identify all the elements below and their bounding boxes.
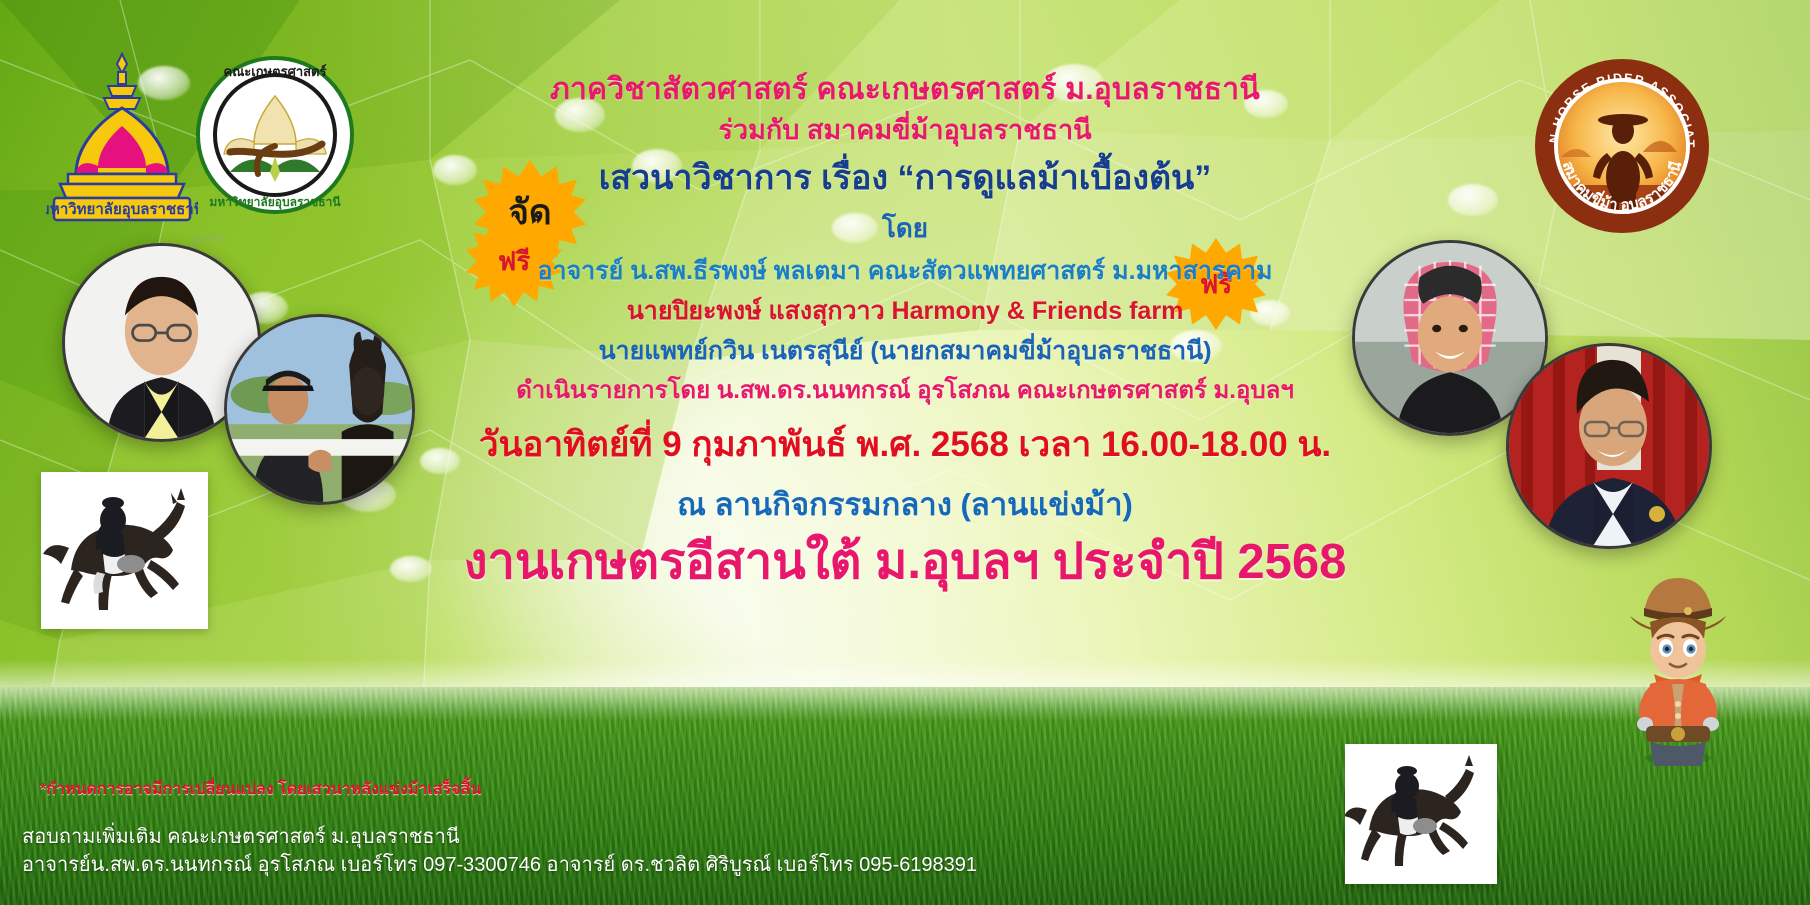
cooperation-line: ร่วมกับ สมาคมขี่ม้าอุบลราชธานี [430, 116, 1380, 145]
speaker-2: นายปิยะพงษ์ แสงสุกวาว Harmony & Friends … [430, 298, 1380, 325]
fair-title: งานเกษตรอีสานใต้ ม.อุบลฯ ประจำปี 2568 [430, 536, 1380, 589]
speaker-3: นายแพทย์กวิน เนตรสุนีย์ (นายกสมาคมขี่ม้า… [430, 338, 1380, 365]
moderator-line: ดำเนินรายการโดย น.สพ.ดร.นนทกรณ์ อุรโสภณ … [430, 378, 1380, 404]
photo-jumping-horse-left [41, 472, 208, 629]
poster-text-block: ภาควิชาสัตวศาสตร์ คณะเกษตรศาสตร์ ม.อุบลร… [430, 74, 1380, 588]
event-poster: urer มหาวิทยาลัยอุบลราชธานี [0, 0, 1810, 905]
speaker-1: อาจารย์ น.สพ.ธีรพงษ์ พลเตมา คณะสัตวแพทยศ… [430, 258, 1380, 285]
topic-line: เสวนาวิชาการ เรื่อง “การดูแลม้าเบื้องต้น… [430, 160, 1380, 197]
photo-speaker-piyapong [224, 314, 415, 505]
svg-text:คณะเกษตรศาสตร์: คณะเกษตรศาสตร์ [224, 64, 327, 79]
svg-text:มหาวิทยาลัยอุบลราชธานี: มหาวิทยาลัยอุบลราชธานี [209, 195, 341, 210]
bokeh-dot [1448, 184, 1498, 216]
contact-line-1: สอบถามเพิ่มเติม คณะเกษตรศาสตร์ ม.อุบลราช… [22, 823, 977, 851]
disclaimer-note: *กำหนดการอาจมีการเปลี่ยนแปลง โดยเสวนาหลั… [40, 777, 481, 802]
bokeh-dot [390, 556, 432, 582]
ubon-horse-rider-association-logo: UBON HORSE RIDER ASSOCIATION สมาคมขี่ม้า… [1533, 57, 1711, 235]
svg-text:มหาวิทยาลัยอุบลราชธานี: มหาวิทยาลัยอุบลราชธานี [46, 200, 198, 219]
photo-moderator-nontakorn [1506, 343, 1712, 549]
host-line: ภาควิชาสัตวศาสตร์ คณะเกษตรศาสตร์ ม.อุบลร… [430, 74, 1380, 106]
cowboy-mascot [1614, 554, 1742, 766]
university-ubu-logo: มหาวิทยาลัยอุบลราชธานี [46, 48, 198, 224]
contact-line-2: อาจารย์น.สพ.ดร.นนทกรณ์ อุรโสภณ เบอร์โทร … [22, 851, 977, 879]
by-label: โดย [430, 214, 1380, 242]
contact-block: สอบถามเพิ่มเติม คณะเกษตรศาสตร์ ม.อุบลราช… [22, 823, 977, 880]
faculty-agriculture-logo: คณะเกษตรศาสตร์ มหาวิทยาลัยอุบลราชธานี [196, 56, 354, 214]
date-time-line: วันอาทิตย์ที่ 9 กุมภาพันธ์ พ.ศ. 2568 เวล… [430, 426, 1380, 464]
photo-jumping-horse-bottom [1345, 744, 1497, 884]
venue-line: ณ ลานกิจกรรมกลาง (ลานแข่งม้า) [430, 488, 1380, 521]
